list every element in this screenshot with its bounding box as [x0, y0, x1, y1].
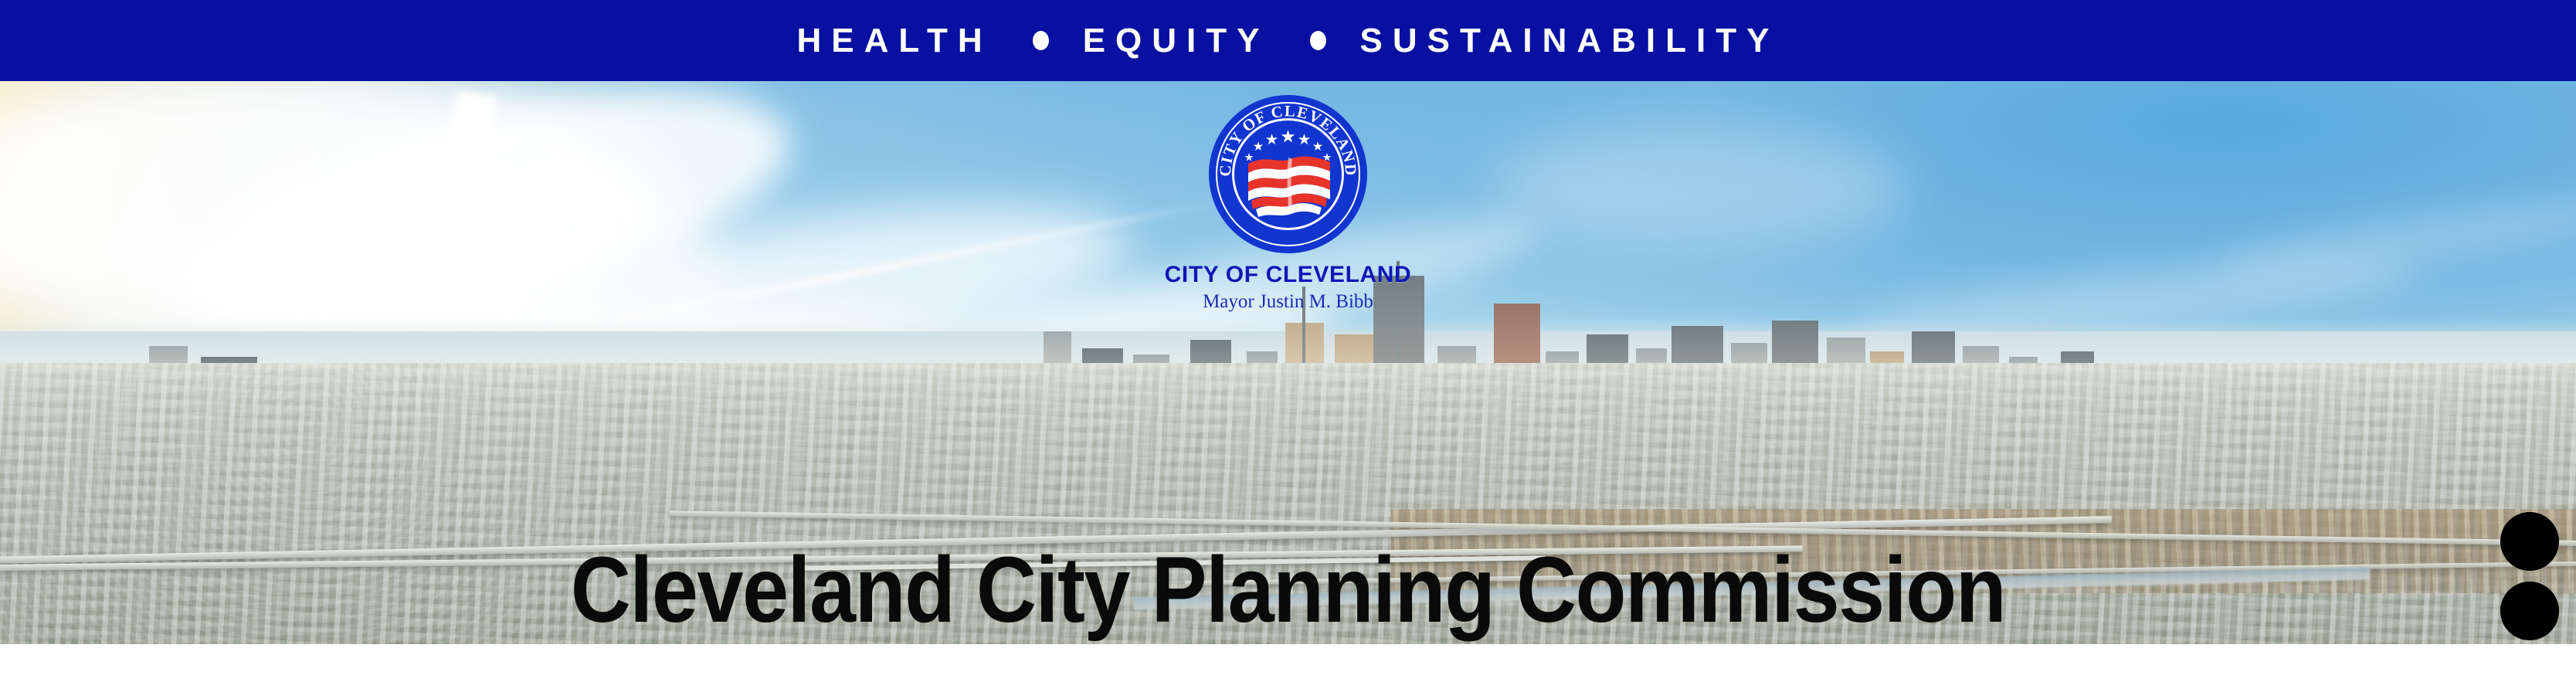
tagline-word-equity: EQUITY: [1083, 24, 1270, 58]
city-logo-block[interactable]: CITY OF CLEVELAND OHIO: [1111, 95, 1466, 312]
tagline-word-health: HEALTH: [797, 24, 993, 58]
seal-stars-icon: [1245, 130, 1332, 161]
seal-inner-disc: [1232, 118, 1344, 230]
hero-photo: CITY OF CLEVELAND OHIO: [0, 81, 2576, 644]
page-title: Cleveland City Planning Commission: [0, 543, 2576, 636]
city-of-cleveland-seal-icon: CITY OF CLEVELAND OHIO: [1209, 95, 1367, 253]
youtube-icon[interactable]: [2500, 512, 2559, 571]
page-bottom-whitespace: [0, 644, 2576, 682]
seal-flag-icon: [1248, 157, 1330, 217]
tagline-banner: HEALTH EQUITY SUSTAINABILITY: [0, 0, 2576, 81]
org-name: CITY OF CLEVELAND: [1111, 263, 1466, 287]
bullet-dot-icon: [1033, 31, 1049, 50]
mayor-name: Mayor Justin M. Bibb: [1111, 291, 1466, 313]
bullet-dot-icon: [1310, 31, 1326, 50]
social-links: [2500, 512, 2559, 644]
seal-inner-blue-field: [1234, 120, 1342, 228]
tagline-word-sustainability: SUSTAINABILITY: [1360, 24, 1780, 58]
instagram-icon[interactable]: [2500, 582, 2559, 640]
page-root: HEALTH EQUITY SUSTAINABILITY: [0, 0, 2576, 682]
tagline-banner-inner: HEALTH EQUITY SUSTAINABILITY: [797, 24, 1780, 58]
seal-flag-and-stars-icon: [1234, 120, 1342, 228]
